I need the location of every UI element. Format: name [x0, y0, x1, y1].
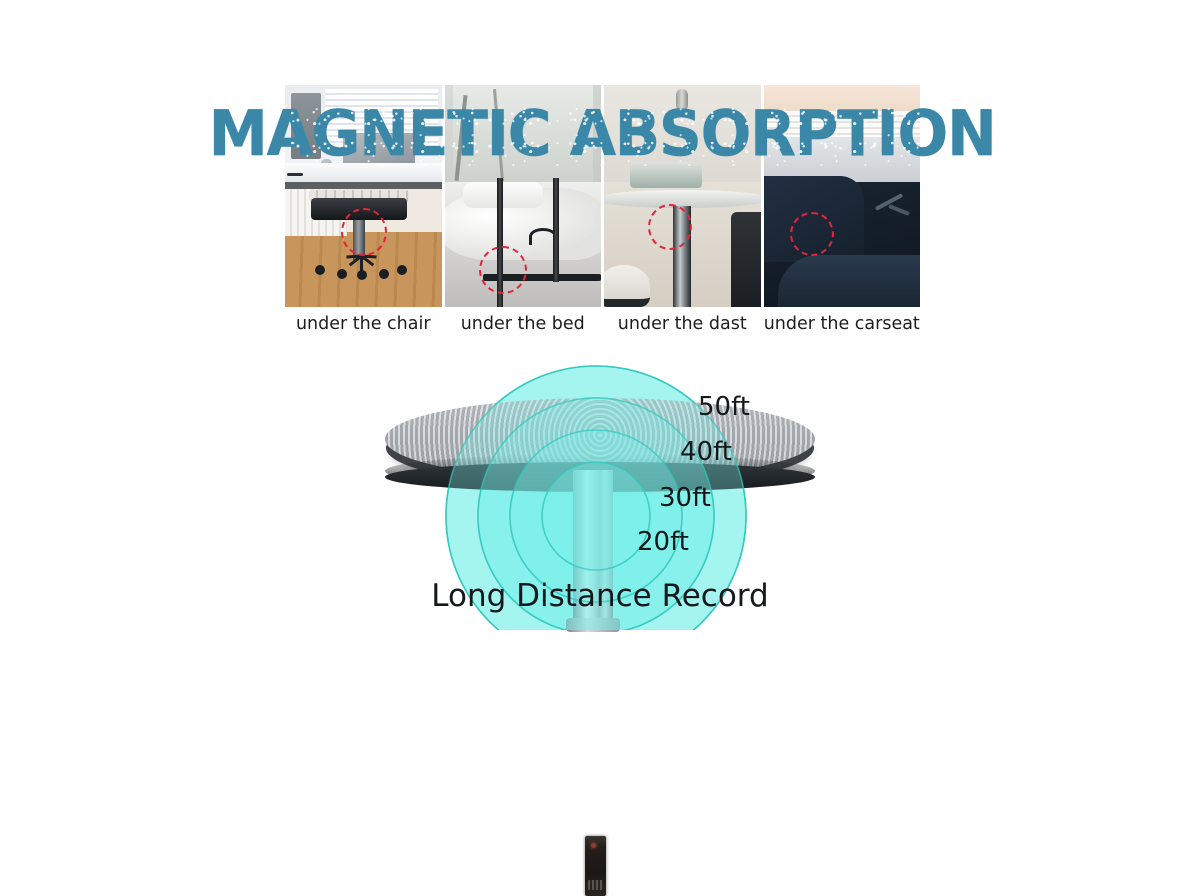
led-indicator-icon [591, 843, 596, 848]
table-lamp-base [630, 162, 702, 188]
gallery-panel-bed[interactable] [445, 85, 602, 307]
caption-desk: under the dast [604, 309, 761, 339]
signal-ring-20ft [542, 462, 650, 570]
desk-surface [285, 163, 442, 182]
room-photo-upper [764, 85, 921, 182]
monitor [291, 93, 321, 159]
caption-bed: under the bed [445, 309, 602, 339]
magnet-highlight-icon [790, 212, 834, 256]
desk-photo-upper [285, 85, 442, 182]
range-diagram: 50ft 40ft 30ft 20ft Long Distance Record [0, 350, 1200, 630]
gallery-panel-desk[interactable] [604, 85, 761, 307]
wall-band [764, 85, 921, 111]
armchair [731, 212, 761, 307]
pillow [463, 182, 543, 208]
car-seat-cushion [778, 255, 921, 307]
range-label-40ft: 40ft [680, 437, 732, 467]
bed-post-rear [553, 178, 559, 282]
caption-carseat: under the carseat [764, 309, 921, 339]
range-label-20ft: 20ft [637, 527, 689, 557]
poster-canvas: MAGNETIC ABSORPTION under the chair unde… [0, 0, 1200, 630]
laptop [343, 133, 415, 163]
bed-photo-lower [445, 182, 602, 307]
lamp-finial [676, 89, 688, 111]
side-stool [604, 265, 650, 307]
magnet-highlight-icon [648, 204, 692, 250]
magnet-highlight-icon [341, 208, 387, 256]
window-blinds [764, 111, 921, 137]
scene-gallery [285, 85, 920, 307]
desk-underside [285, 182, 442, 189]
bedroom-photo-upper [445, 85, 602, 182]
window [453, 85, 594, 182]
car-photo-lower [764, 182, 921, 307]
range-tagline: Long Distance Record [0, 578, 1200, 614]
microphone-grille-icon [588, 880, 603, 890]
table-photo-lower [604, 182, 761, 307]
magnet-highlight-icon [479, 246, 527, 294]
caption-row: under the chair under the bed under the … [285, 309, 920, 339]
gallery-panel-carseat[interactable] [764, 85, 921, 307]
range-label-30ft: 30ft [659, 483, 711, 513]
voice-recorder-device[interactable] [585, 836, 606, 896]
gallery-panel-chair[interactable] [285, 85, 442, 307]
caption-chair: under the chair [285, 309, 442, 339]
range-label-50ft: 50ft [698, 392, 750, 422]
pen [287, 173, 303, 176]
seatbelt [888, 204, 910, 216]
chair-base [313, 256, 407, 272]
chair-photo-lower [285, 182, 442, 307]
